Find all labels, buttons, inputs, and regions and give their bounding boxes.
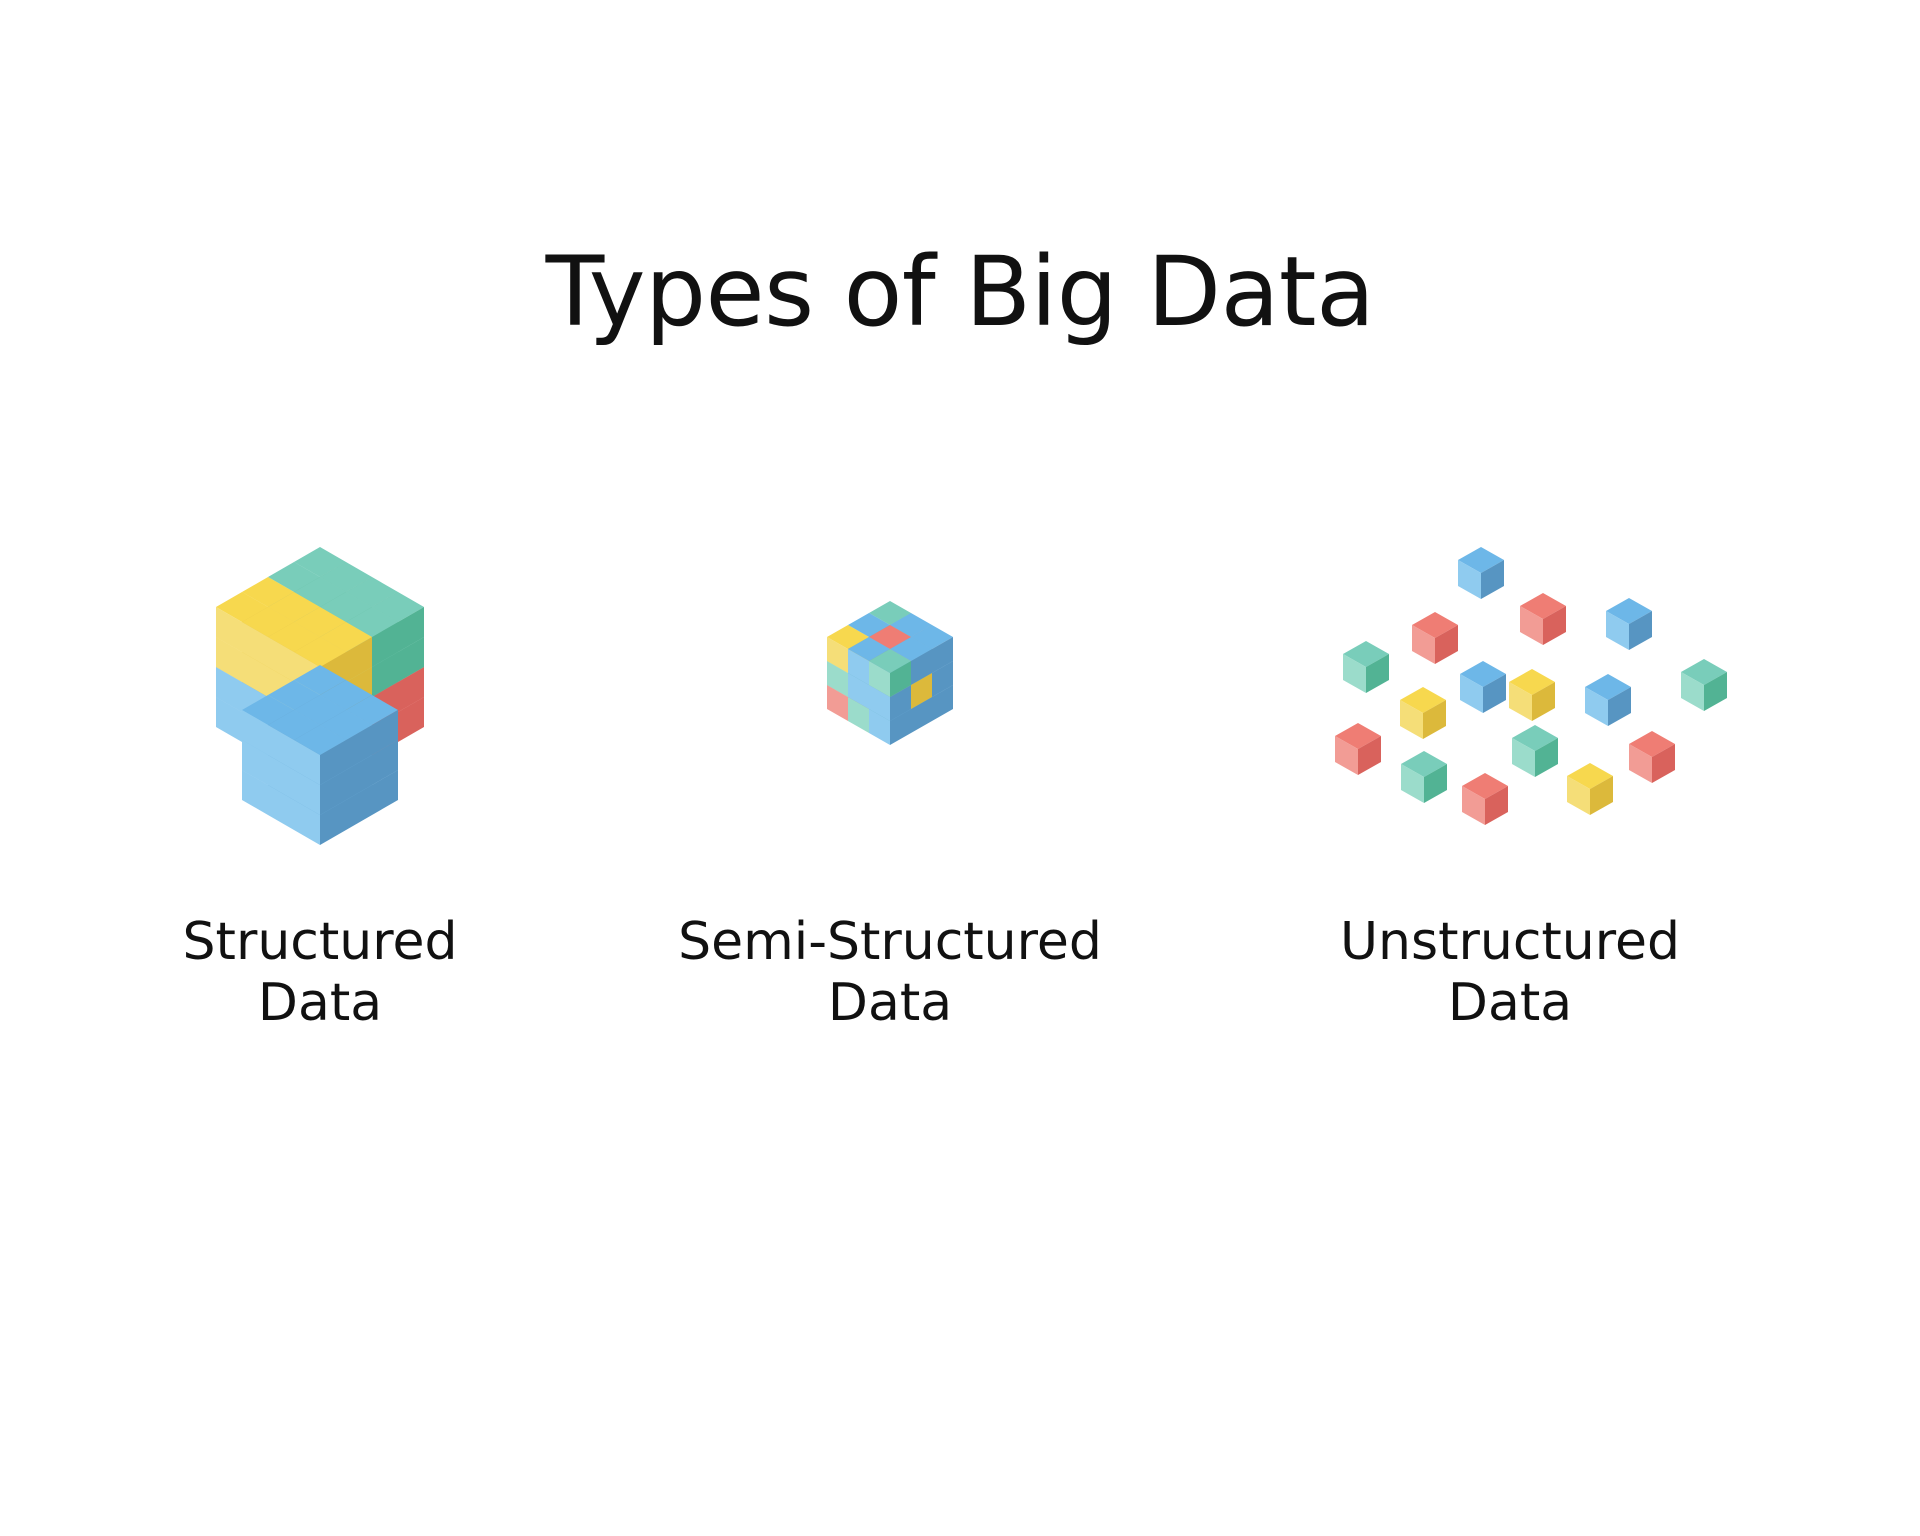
iso-cube-teal-4: [1343, 641, 1389, 693]
iso-cube-red-10: [1335, 723, 1381, 775]
panel-semi-structured: Semi-Structured Data: [630, 500, 1150, 1035]
iso-cube-red-3: [1412, 612, 1458, 664]
caption-semi-line2: Data: [678, 973, 1102, 1034]
caption-unstructured-line1: Unstructured: [1340, 912, 1680, 972]
iso-cube-teal-5: [1681, 659, 1727, 711]
panel-row: Structured Data Semi-Structured Data Uns…: [0, 500, 1920, 1120]
iso-cube-teal-13: [1401, 751, 1447, 803]
iso-cube-yellow-7: [1509, 669, 1555, 721]
infographic-canvas: Types of Big Data Structured Data Semi-S…: [0, 0, 1920, 1536]
caption-structured-line1: Structured: [183, 912, 458, 972]
iso-cube-blue-2: [1606, 598, 1652, 650]
unstructured-cubes-illustration: [1300, 535, 1720, 865]
iso-cube-blue-0: [1458, 547, 1504, 599]
iso-cube-blue-6: [1460, 661, 1506, 713]
iso-cube-red-1: [1520, 593, 1566, 645]
caption-structured: Structured Data: [183, 912, 458, 1035]
panel-structured: Structured Data: [40, 500, 600, 1035]
semi-structured-cube-illustration: [760, 575, 1020, 825]
panel-unstructured: Unstructured Data: [1170, 500, 1850, 1035]
iso-cube-yellow-14: [1567, 763, 1613, 815]
iso-cube-red-15: [1462, 773, 1508, 825]
caption-unstructured-line2: Data: [1340, 973, 1680, 1034]
caption-semi-structured: Semi-Structured Data: [678, 912, 1102, 1035]
iso-cube-yellow-9: [1400, 687, 1446, 739]
caption-structured-line2: Data: [183, 973, 458, 1034]
structured-cube-illustration: [110, 515, 530, 885]
iso-cube-blue-8: [1585, 674, 1631, 726]
caption-semi-line1: Semi-Structured: [678, 912, 1102, 972]
iso-cube-red-12: [1629, 731, 1675, 783]
iso-cube-teal-11: [1512, 725, 1558, 777]
semi-structured-figure: [630, 500, 1150, 900]
page-title: Types of Big Data: [0, 242, 1920, 343]
unstructured-figure: [1170, 500, 1850, 900]
caption-unstructured: Unstructured Data: [1340, 912, 1680, 1035]
structured-figure: [40, 500, 600, 900]
